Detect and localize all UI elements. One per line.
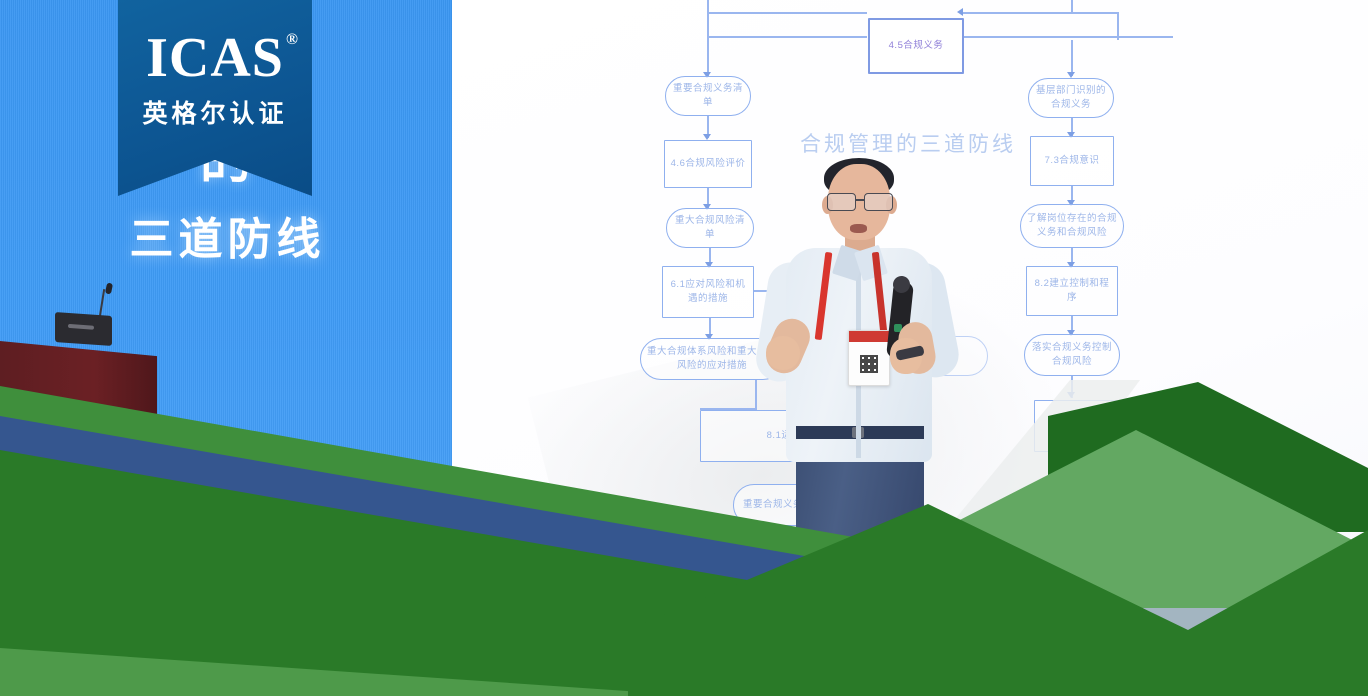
- screenshot-canvas: 的 三道防线 4.5合规义务 重要合规义务清单 4.6合规风险评价 重大合规风险…: [0, 0, 1368, 696]
- flow-connector: [1071, 0, 1073, 12]
- qr-code-icon: [860, 355, 878, 373]
- conference-badge: [848, 330, 890, 386]
- registered-trademark-icon: ®: [286, 32, 299, 48]
- flow-connector: [707, 12, 709, 36]
- flow-connector: [707, 36, 867, 38]
- led-wall-title-line2: 三道防线: [0, 203, 455, 267]
- flow-node-implement-obligations: 落实合规义务控制合规风险: [1024, 334, 1120, 376]
- icas-wordmark-cn: 英格尔认证: [118, 94, 312, 130]
- flow-node-4-5: 4.5合规义务: [868, 18, 964, 74]
- podium-mic-base: [55, 312, 112, 346]
- flow-node-major-risk-list: 重大合规风险清单: [666, 208, 754, 248]
- flow-node-know-post-obligations: 了解岗位存在的合规义务和合规风险: [1020, 204, 1124, 248]
- flow-connector: [755, 380, 757, 410]
- flow-node-dept-identified-obligations: 基层部门识别的合规义务: [1028, 78, 1114, 118]
- badge-header-band: [849, 331, 889, 342]
- flow-node-8-2: 8.2建立控制和程序: [1026, 266, 1118, 316]
- flow-connector: [1117, 12, 1119, 40]
- flow-connector: [963, 36, 1173, 38]
- icas-wordmark: ICAS: [146, 27, 284, 89]
- flow-connector: [707, 36, 709, 76]
- flow-connector: [963, 12, 1118, 14]
- flow-node-4-6: 4.6合规风险评价: [664, 140, 752, 188]
- flow-connector: [707, 12, 867, 14]
- speaker-mouth: [850, 224, 867, 233]
- flow-node-7-3: 7.3合规意识: [1030, 136, 1114, 186]
- flow-connector: [1071, 40, 1073, 76]
- glasses-icon: [826, 193, 894, 209]
- flow-node-important-obligations-list: 重要合规义务清单: [665, 76, 751, 116]
- slide-title: 合规管理的三道防线: [800, 128, 1016, 158]
- speaker-left-hand: [766, 336, 800, 370]
- flow-arrow: [957, 8, 963, 16]
- flow-node-6-1: 6.1应对风险和机遇的措施: [662, 266, 754, 318]
